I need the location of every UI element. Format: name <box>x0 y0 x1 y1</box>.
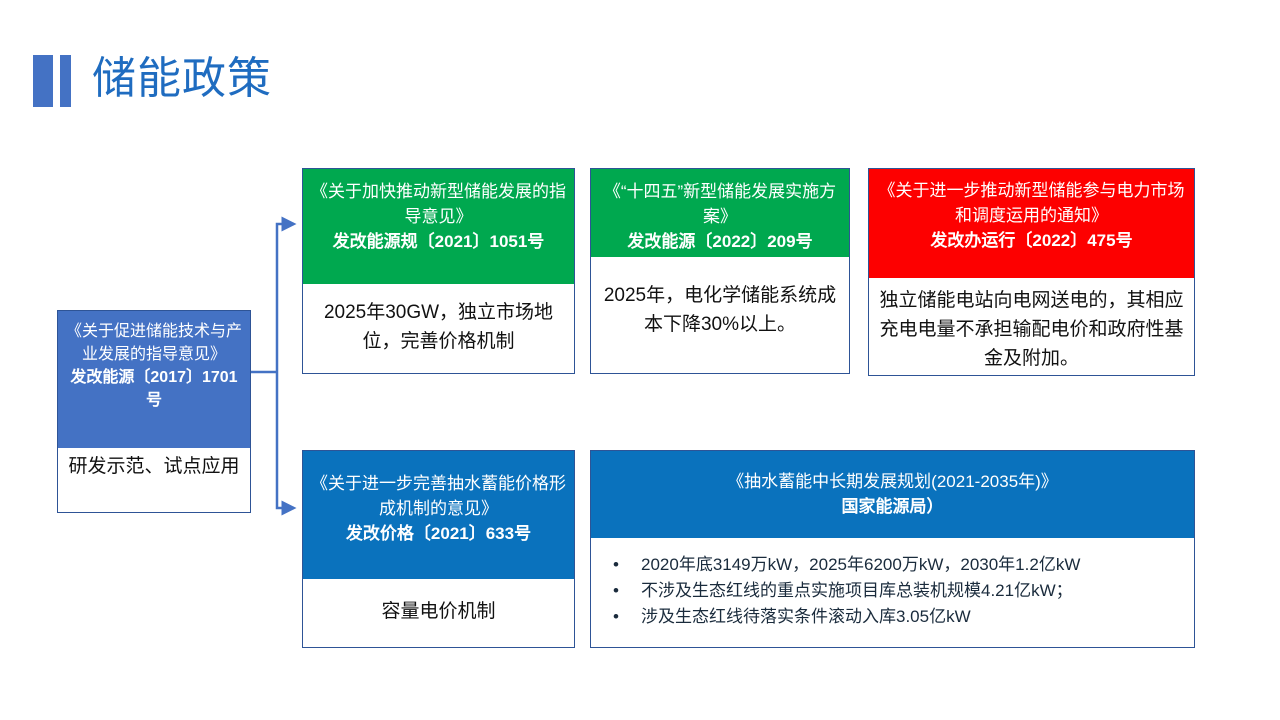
policy-node-root-doc-no: 发改能源〔2017〕1701号 <box>70 369 237 409</box>
policy-node-green-1-body: 2025年30GW，独立市场地位，完善价格机制 <box>303 284 574 373</box>
policy-node-blue-left-header: 《关于进一步完善抽水蓄能价格形成机制的意见》 发改价格〔2021〕633号 <box>303 451 574 579</box>
policy-node-blue-wide-bullet-list: 2020年底3149万kW，2025年6200万kW，2030年1.2亿kW 不… <box>605 552 1180 630</box>
policy-node-green-1-title: 《关于加快推动新型储能发展的指导意见》 <box>311 182 566 226</box>
policy-node-blue-wide-doc-no: 国家能源局） <box>842 497 944 516</box>
policy-node-green-2[interactable]: 《“十四五”新型储能发展实施方案》 发改能源〔2022〕209号 2025年，电… <box>590 168 850 374</box>
policy-node-green-1-header: 《关于加快推动新型储能发展的指导意见》 发改能源规〔2021〕1051号 <box>303 169 574 284</box>
policy-node-blue-wide-body: 2020年底3149万kW，2025年6200万kW，2030年1.2亿kW 不… <box>591 538 1194 647</box>
list-item: 涉及生态红线待落实条件滚动入库3.05亿kW <box>605 604 1180 630</box>
list-item: 不涉及生态红线的重点实施项目库总装机规模4.21亿kW； <box>605 578 1180 604</box>
policy-node-root[interactable]: 《关于促进储能技术与产业发展的指导意见》 发改能源〔2017〕1701号 研发示… <box>57 310 251 513</box>
policy-node-blue-left[interactable]: 《关于进一步完善抽水蓄能价格形成机制的意见》 发改价格〔2021〕633号 容量… <box>302 450 575 648</box>
page-title: 储能政策 <box>92 50 272 108</box>
policy-node-red-body: 独立储能电站向电网送电的，其相应充电电量不承担输配电价和政府性基金及附加。 <box>869 278 1194 375</box>
policy-node-red-doc-no: 发改办运行〔2022〕475号 <box>930 231 1132 250</box>
policy-node-blue-wide-header: 《抽水蓄能中长期发展规划(2021-2035年)》 国家能源局） <box>591 451 1194 538</box>
policy-node-root-header: 《关于促进储能技术与产业发展的指导意见》 发改能源〔2017〕1701号 <box>58 311 250 448</box>
title-accent-bar-wide <box>33 55 53 107</box>
policy-node-red[interactable]: 《关于进一步推动新型储能参与电力市场和调度运用的通知》 发改办运行〔2022〕4… <box>868 168 1195 376</box>
policy-node-blue-left-doc-no: 发改价格〔2021〕633号 <box>346 524 531 543</box>
slide-canvas: 储能政策 《关于促进储能技术与产业发展的指导意见》 发改能源〔2017〕1701… <box>0 0 1280 720</box>
policy-node-green-1[interactable]: 《关于加快推动新型储能发展的指导意见》 发改能源规〔2021〕1051号 202… <box>302 168 575 374</box>
policy-node-green-2-doc-no: 发改能源〔2022〕209号 <box>627 232 812 251</box>
policy-node-blue-wide[interactable]: 《抽水蓄能中长期发展规划(2021-2035年)》 国家能源局） 2020年底3… <box>590 450 1195 648</box>
policy-node-red-header: 《关于进一步推动新型储能参与电力市场和调度运用的通知》 发改办运行〔2022〕4… <box>869 169 1194 278</box>
policy-node-blue-left-title: 《关于进一步完善抽水蓄能价格形成机制的意见》 <box>311 474 566 518</box>
title-accent-bar-thin <box>60 55 71 107</box>
policy-node-root-title: 《关于促进储能技术与产业发展的指导意见》 <box>66 323 242 363</box>
policy-node-green-2-header: 《“十四五”新型储能发展实施方案》 发改能源〔2022〕209号 <box>591 169 849 257</box>
list-item: 2020年底3149万kW，2025年6200万kW，2030年1.2亿kW <box>605 552 1180 578</box>
policy-node-red-title: 《关于进一步推动新型储能参与电力市场和调度运用的通知》 <box>879 181 1185 225</box>
policy-node-green-2-title: 《“十四五”新型储能发展实施方案》 <box>604 182 836 226</box>
policy-node-green-1-doc-no: 发改能源规〔2021〕1051号 <box>333 232 545 251</box>
policy-node-root-body: 研发示范、试点应用 <box>58 448 250 512</box>
policy-node-blue-left-body: 容量电价机制 <box>303 579 574 647</box>
policy-node-blue-wide-title: 《抽水蓄能中长期发展规划(2021-2035年)》 <box>727 472 1058 491</box>
policy-node-green-2-body: 2025年，电化学储能系统成本下降30%以上。 <box>591 257 849 373</box>
